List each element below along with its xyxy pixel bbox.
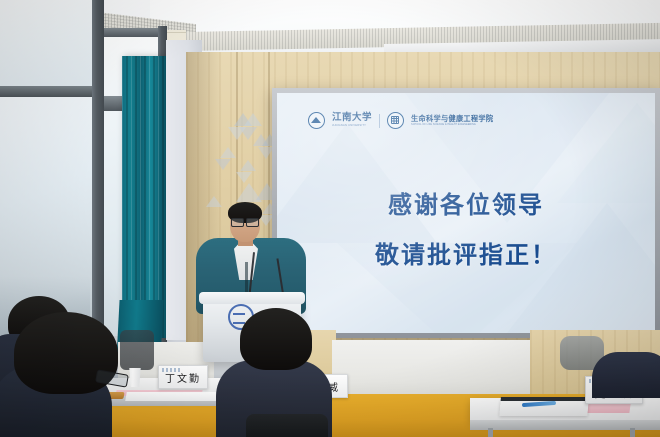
- school-name-en: SCHOOL OF LIFE SCIENCE & HEALTH ENGINEER…: [411, 124, 493, 126]
- window-pane-top-left: [0, 0, 96, 86]
- university-name-cn: 江南大学: [332, 113, 372, 123]
- audience-right-edge-body: [592, 352, 660, 398]
- window-mullion-horizontal-1: [0, 86, 104, 97]
- window-mullion-vertical-1: [92, 0, 104, 344]
- presenter-glasses-icon: [231, 218, 259, 225]
- nameplate-crest-icon: [162, 368, 182, 372]
- jiangnan-university-logo-icon: [308, 112, 325, 129]
- chair-left-background: [120, 330, 154, 370]
- chair-center-foreground: [246, 414, 328, 437]
- logo-divider: [379, 114, 380, 128]
- wall-decal-triangle-4: [228, 127, 246, 140]
- wall-decal-triangle-10: [240, 160, 256, 171]
- wall-decal-triangle-8: [220, 147, 236, 158]
- school-logo-icon: [387, 112, 404, 129]
- wall-decal-triangle-9: [215, 159, 231, 170]
- wall-decal-triangle-11: [236, 172, 252, 183]
- slide-logo-lockup: 江南大学 JIANGNAN UNIVERSITY 生命科学与健康工程学院 SCH…: [308, 112, 493, 129]
- white-wall-panel-lower: [332, 340, 530, 400]
- projection-screen-frame: 江南大学 JIANGNAN UNIVERSITY 生命科学与健康工程学院 SCH…: [272, 88, 660, 338]
- podium-top-surface: [199, 292, 305, 304]
- slide-headline-line2: 敬请批评指正！: [277, 235, 655, 270]
- table-leg-right-2: [630, 428, 635, 437]
- projection-screen[interactable]: 江南大学 JIANGNAN UNIVERSITY 生命科学与健康工程学院 SCH…: [277, 93, 655, 333]
- nameplate-ding-wenqin: 丁文勤: [158, 365, 208, 389]
- university-name-en: JIANGNAN UNIVERSITY: [332, 125, 372, 128]
- school-wordmark: 生命科学与健康工程学院 SCHOOL OF LIFE SCIENCE & HEA…: [411, 115, 493, 127]
- wall-decal-triangle-12: [206, 196, 222, 207]
- school-name-cn: 生命科学与健康工程学院: [411, 115, 493, 122]
- table-leg-right-1: [488, 428, 493, 437]
- wall-decal-triangle-2: [244, 113, 262, 126]
- teal-curtain: [122, 56, 168, 338]
- jiangnan-university-wordmark: 江南大学 JIANGNAN UNIVERSITY: [332, 113, 372, 127]
- white-document-left: [125, 392, 219, 401]
- photo-scene: 江南大学 JIANGNAN UNIVERSITY 生命科学与健康工程学院 SCH…: [0, 0, 660, 437]
- slide-headline-line1: 感谢各位领导: [277, 185, 655, 220]
- nameplate-text: 丁文勤: [165, 375, 201, 388]
- audience-center-suit-hair: [240, 308, 312, 370]
